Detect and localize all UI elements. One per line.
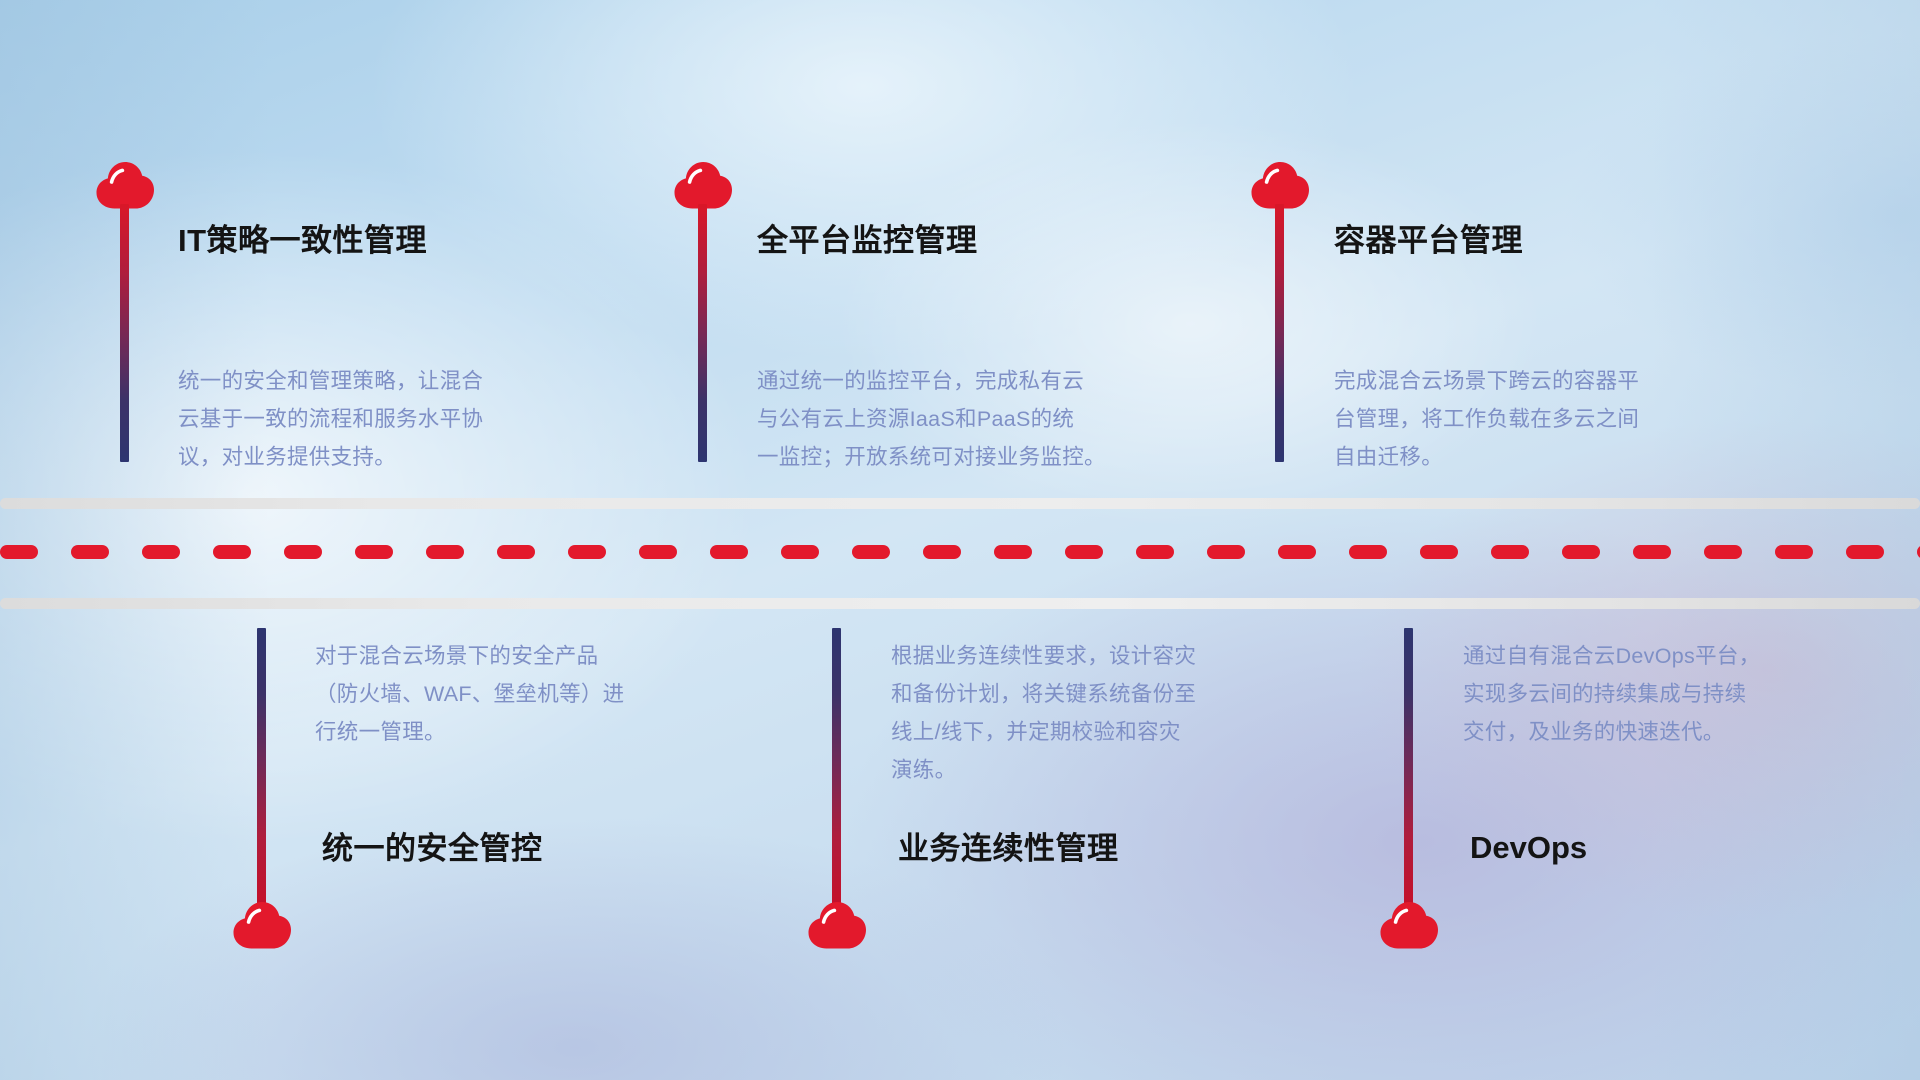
panel-body: 通过自有混合云DevOps平台， 实现多云间的持续集成与持续 交付，及业务的快速… <box>1463 637 1893 751</box>
panel-body: 通过统一的监控平台，完成私有云 与公有云上资源IaaS和PaaS的统 一监控；开… <box>757 362 1207 476</box>
cloud-icon <box>672 160 734 210</box>
cloud-icon <box>94 160 156 210</box>
cloud-icon <box>806 900 868 950</box>
stem-line <box>832 628 841 904</box>
panel-body: 完成混合云场景下跨云的容器平 台管理，将工作负载在多云之间 自由迁移。 <box>1334 362 1774 476</box>
panel-body: 统一的安全和管理策略，让混合 云基于一致的流程和服务水平协 议，对业务提供支持。 <box>178 362 618 476</box>
panel-title: 统一的安全管控 <box>322 833 543 864</box>
cloud-icon <box>1249 160 1311 210</box>
panel-title: DevOps <box>1470 832 1587 863</box>
panel-title: 全平台监控管理 <box>757 225 978 256</box>
stem-line <box>1275 204 1284 462</box>
panel-title: 容器平台管理 <box>1334 225 1523 256</box>
panel-body: 对于混合云场景下的安全产品 （防火墙、WAF、堡垒机等）进 行统一管理。 <box>315 637 745 751</box>
cloud-icon <box>1378 900 1440 950</box>
stem-line <box>698 204 707 462</box>
panel-title: 业务连续性管理 <box>898 833 1119 864</box>
panel-body: 根据业务连续性要求，设计容灾 和备份计划，将关键系统备份至 线上/线下，并定期校… <box>891 637 1321 789</box>
stem-line <box>257 628 266 904</box>
content-columns: IT策略一致性管理 统一的安全和管理策略，让混合 云基于一致的流程和服务水平协 … <box>0 0 1920 1080</box>
cloud-icon <box>231 900 293 950</box>
stem-line <box>1404 628 1413 904</box>
panel-title: IT策略一致性管理 <box>178 225 427 256</box>
stem-line <box>120 204 129 462</box>
